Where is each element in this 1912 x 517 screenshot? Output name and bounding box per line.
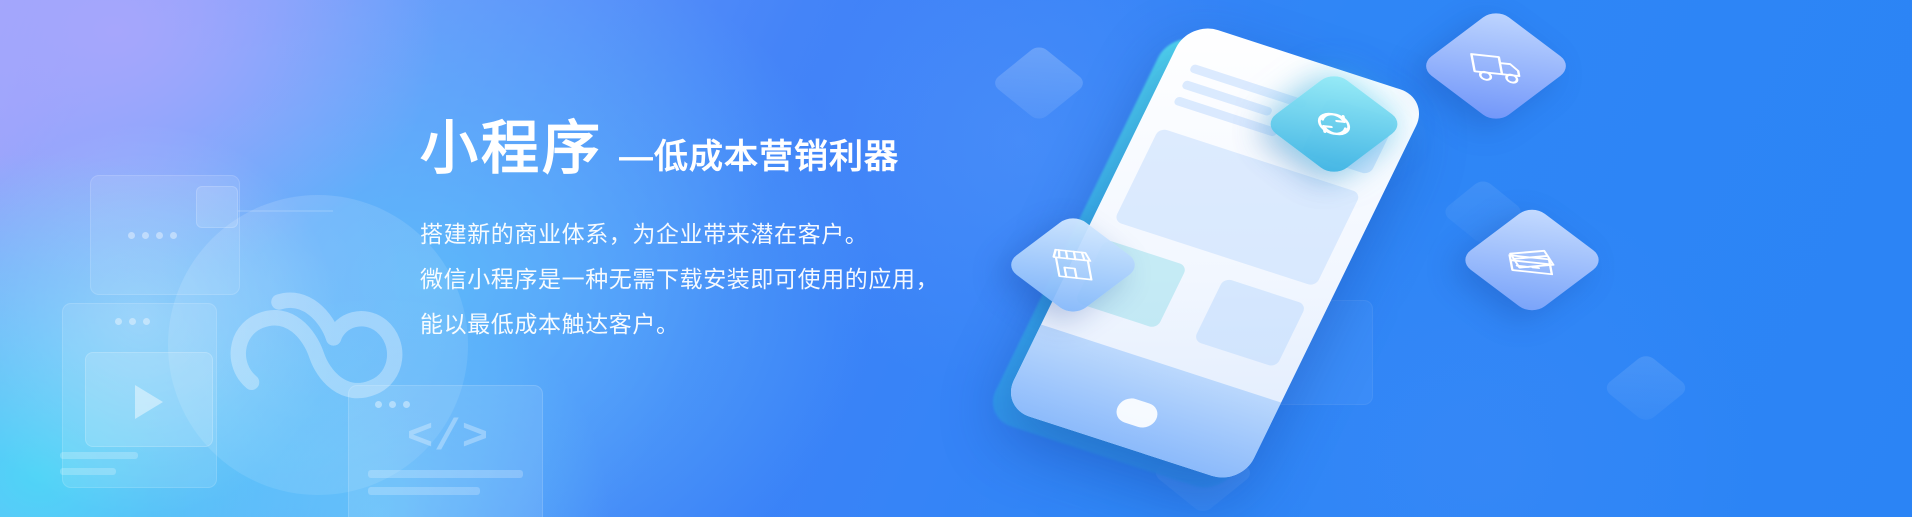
decor-window-dots-middle xyxy=(115,318,150,325)
wechat-mini-program-logo-icon xyxy=(214,248,419,438)
code-brackets-icon: </> xyxy=(368,415,528,461)
decor-square xyxy=(196,186,238,228)
glow-top-left xyxy=(0,120,350,517)
decor-text-bar xyxy=(368,470,523,478)
refresh-sync-icon xyxy=(1305,102,1362,145)
credit-card-icon xyxy=(1501,236,1563,283)
delivery-truck-icon xyxy=(1463,41,1528,90)
floating-block xyxy=(1602,353,1690,424)
promo-banner: </> 小程序 —低成本营销利器 搭建新的商业体系，为企业带来潜在客户。 微信小… xyxy=(0,0,1912,517)
play-icon xyxy=(135,385,163,419)
decor-connector-line xyxy=(238,210,333,212)
decor-text-bar xyxy=(368,487,480,495)
headline-main: 小程序 xyxy=(420,120,603,178)
decor-text-bar xyxy=(60,468,116,475)
headline-sub: —低成本营销利器 xyxy=(619,140,899,178)
decor-window-dots-top xyxy=(128,232,177,239)
decor-text-bar xyxy=(60,452,138,459)
screen-tile xyxy=(1193,278,1306,368)
storefront-icon xyxy=(1043,242,1103,287)
decor-window-dots-code xyxy=(375,401,410,408)
